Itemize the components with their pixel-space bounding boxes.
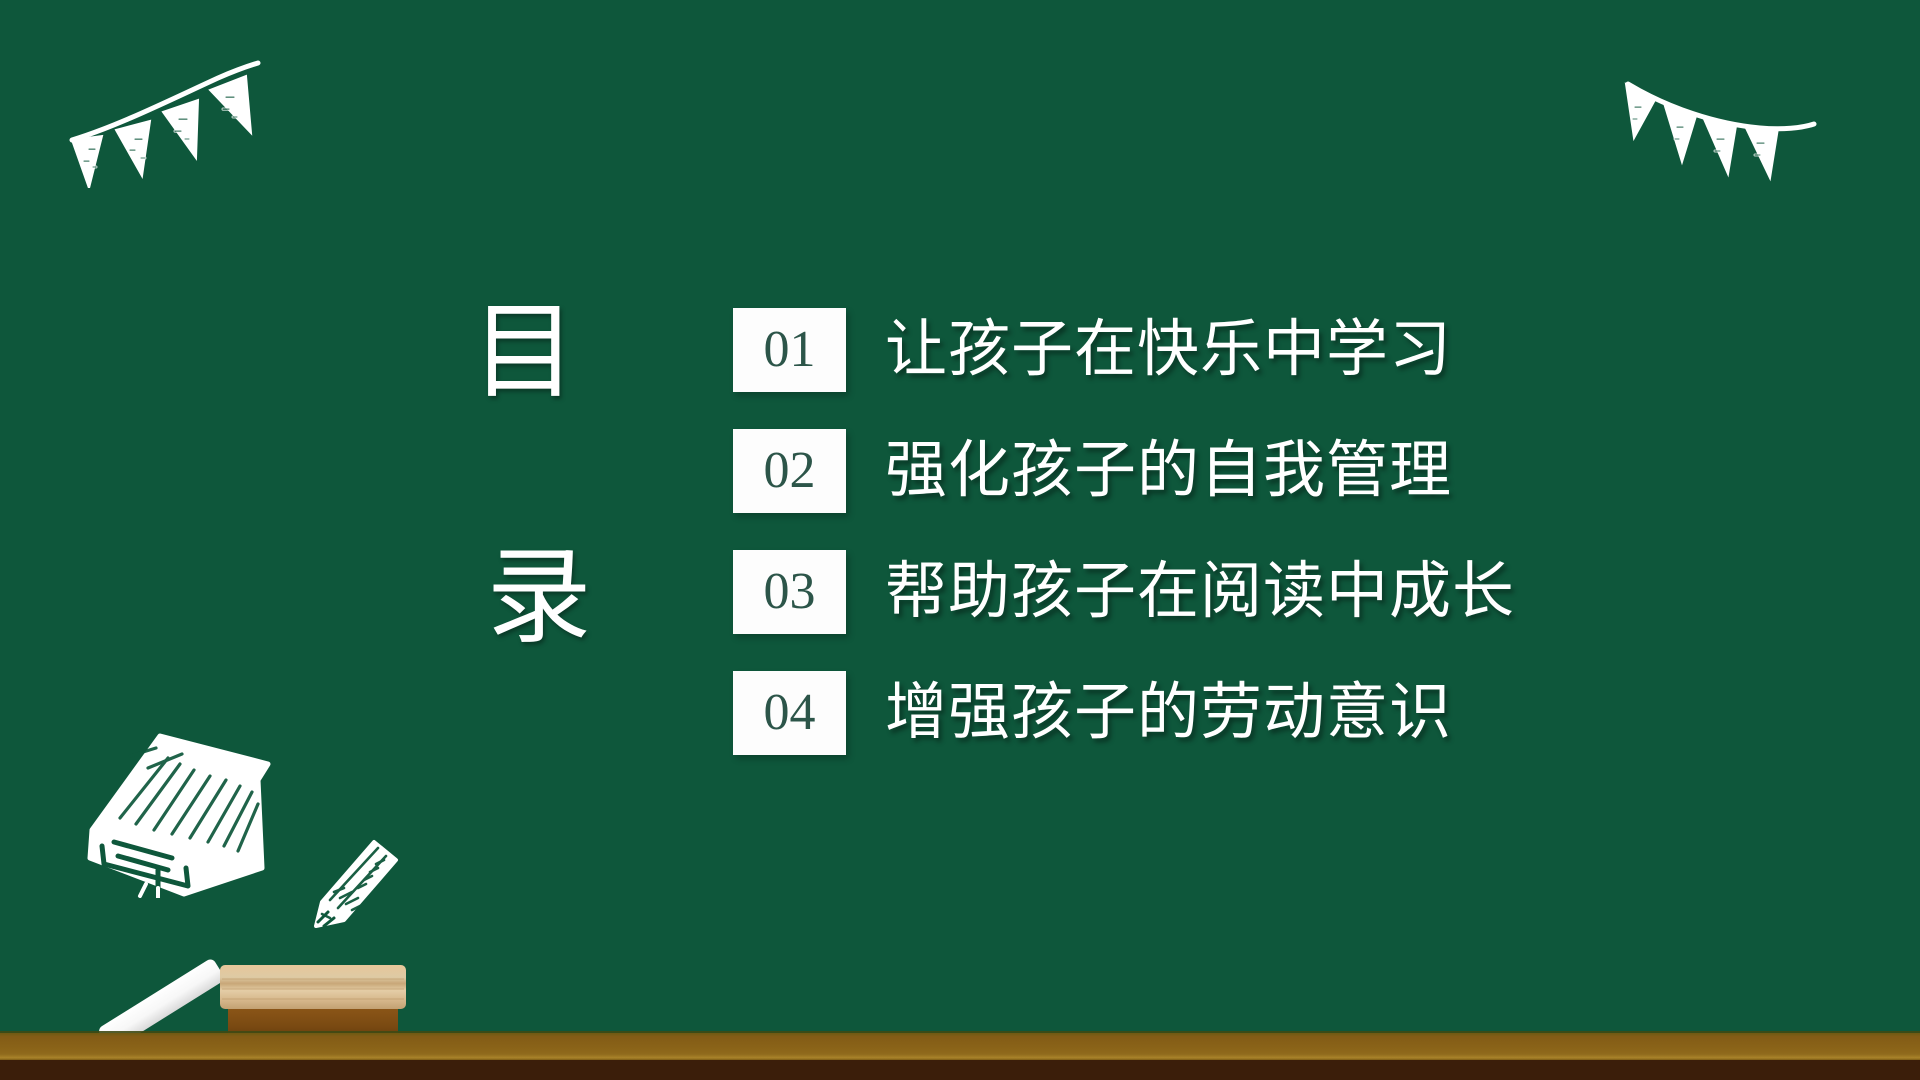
bunting-right-decoration	[1620, 62, 1820, 187]
toc-number-badge: 04	[733, 671, 846, 755]
chalk-ledge-shadow	[0, 1060, 1920, 1080]
bunting-flags-icon	[1620, 62, 1820, 182]
toc-item-label: 帮助孩子在阅读中成长	[885, 561, 1515, 623]
book-decoration	[62, 718, 282, 903]
toc-item-label: 强化孩子的自我管理	[885, 440, 1452, 502]
toc-item-02[interactable]: 02 强化孩子的自我管理	[733, 429, 1633, 513]
toc-number-badge: 03	[733, 550, 846, 634]
toc-item-04[interactable]: 04 增强孩子的劳动意识	[733, 671, 1633, 755]
chalk-ledge-top	[0, 1033, 1920, 1060]
toc-title-char-1: 目	[418, 300, 630, 405]
toc-title: 目 录	[430, 300, 630, 650]
book-icon	[62, 718, 282, 898]
toc-item-01[interactable]: 01 让孩子在快乐中学习	[733, 308, 1633, 392]
toc-item-label: 增强孩子的劳动意识	[885, 682, 1452, 744]
toc-item-03[interactable]: 03 帮助孩子在阅读中成长	[733, 550, 1633, 634]
bunting-flags-icon	[58, 48, 288, 188]
toc-number-badge: 01	[733, 308, 846, 392]
toc-item-label: 让孩子在快乐中学习	[885, 319, 1452, 381]
bunting-left-decoration	[58, 48, 288, 193]
pencil-icon	[300, 828, 420, 938]
slide-canvas: 目 录 01 让孩子在快乐中学习 02 强化孩子的自我管理 03 帮助孩子在阅读…	[0, 0, 1920, 1080]
toc-list: 01 让孩子在快乐中学习 02 强化孩子的自我管理 03 帮助孩子在阅读中成长 …	[733, 308, 1633, 792]
toc-number-badge: 02	[733, 429, 846, 513]
pencil-decoration	[300, 828, 420, 943]
toc-title-char-2: 录	[448, 545, 630, 650]
